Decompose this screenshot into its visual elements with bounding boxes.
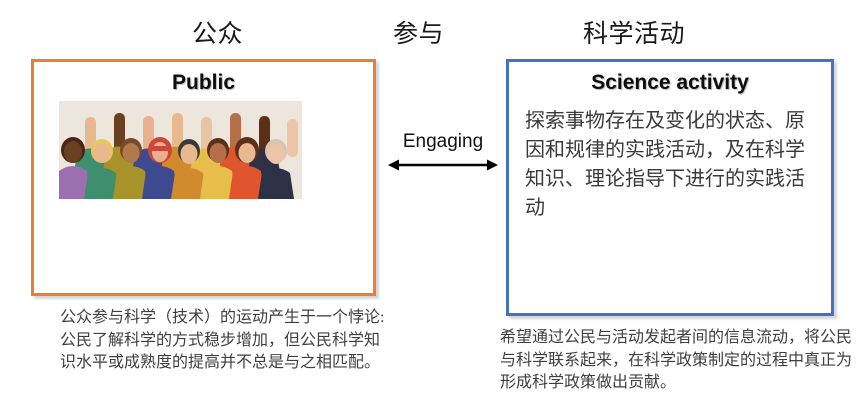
crowd-illustration-svg xyxy=(59,101,302,199)
header-label-public: 公众 xyxy=(192,14,243,50)
engaging-label: Engaging xyxy=(388,131,498,153)
header-label-science: 科学活动 xyxy=(583,14,685,50)
header-label-engaging: 参与 xyxy=(393,14,444,50)
double-headed-arrow-icon xyxy=(388,157,498,173)
public-panel-title: Public xyxy=(34,71,373,95)
public-caption: 公众参与科学（技术）的运动产生于一个悖论:公民了解科学的方式稳步增加，但公民科学… xyxy=(60,307,395,375)
science-caption: 希望通过公民与活动发起者间的信息流动，将公民与科学联系起来，在科学政策制定的过程… xyxy=(500,327,858,395)
science-activity-panel: Science activity 探索事物存在及变化的状态、原因和规律的实践活动… xyxy=(506,59,834,316)
science-panel-body: 探索事物存在及变化的状态、原因和规律的实践活动，及在科学知识、理论指导下进行的实… xyxy=(509,95,831,223)
science-panel-title: Science activity xyxy=(509,71,831,95)
crowd-raised-hands-illustration xyxy=(59,101,302,199)
engaging-arrow-group: Engaging xyxy=(388,131,498,178)
